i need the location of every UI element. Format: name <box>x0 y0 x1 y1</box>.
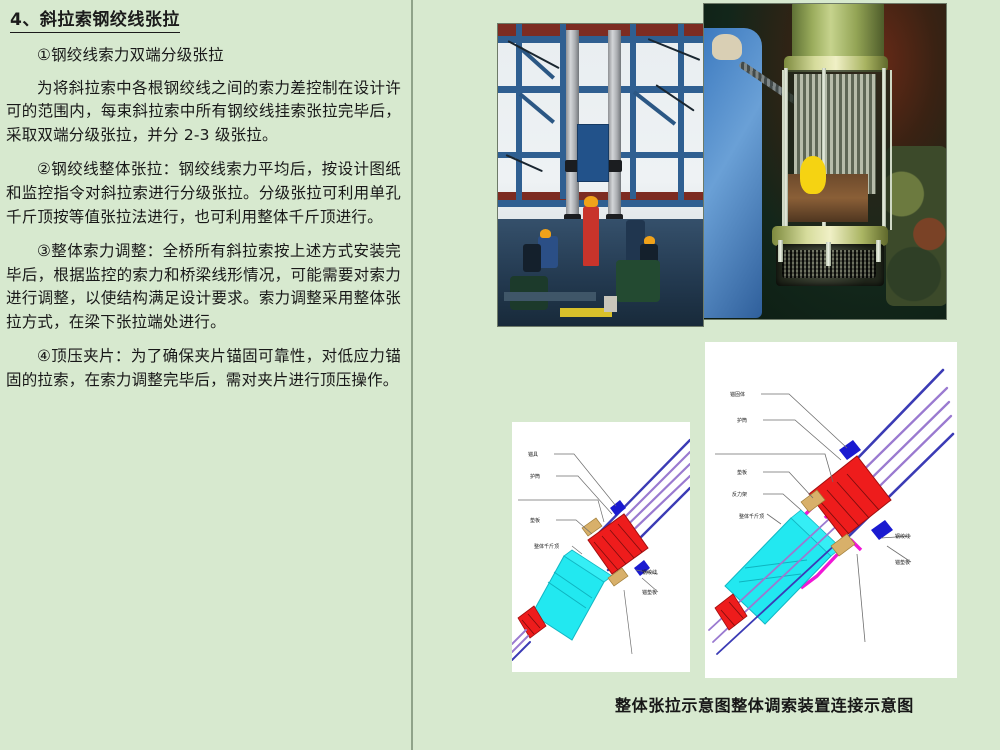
worker-left-helmet <box>540 229 551 238</box>
diagram-left-label-1: 护筒 <box>530 473 540 480</box>
worker-center-helmet <box>584 196 598 207</box>
diagram-right-label-r1: 锚垫板 <box>895 559 910 566</box>
beam-mid <box>498 86 703 93</box>
strand-tail <box>512 630 530 660</box>
flange-bolt-1 <box>778 240 783 262</box>
control-box <box>577 124 609 182</box>
cable-adjust-svg: 锚固体 护筒 垫板 反力架 整体千斤顶 钢绞线 锚垫板 <box>705 342 957 678</box>
media-column: 锚具 护筒 垫板 整体千斤顶 钢绞线 锚垫板 <box>415 0 1000 750</box>
flange-bolt-2 <box>826 242 831 266</box>
worker-center-body <box>583 206 599 266</box>
diagram-right-label-1: 护筒 <box>737 417 747 424</box>
overall-tensioning-diagram: 锚具 护筒 垫板 整体千斤顶 钢绞线 锚垫板 <box>512 422 690 672</box>
cylinder-cap-right <box>607 160 622 172</box>
page-title: 4、斜拉索钢绞线张拉 <box>10 10 180 33</box>
anchor-plate-upper <box>610 500 626 516</box>
diagram-left-label-0: 锚具 <box>528 451 538 458</box>
deck-plank <box>504 292 596 301</box>
camo-equipment <box>886 146 947 306</box>
paragraph-1: ①钢绞线索力双端分级张拉 <box>6 44 401 68</box>
tension-cylinder-right <box>608 30 621 230</box>
paragraph-3: ②钢绞线整体张拉：钢绞线索力平均后，按设计图纸和监控指令对斜拉索进行分级张拉。分… <box>6 158 401 229</box>
column-mid-right <box>630 24 636 199</box>
worker-left-body <box>538 236 558 268</box>
beam-deckline-2 <box>498 200 703 207</box>
flange-bolt-3 <box>876 240 881 262</box>
diagram-right-label-2: 垫板 <box>737 469 747 476</box>
construction-site-photo <box>497 23 704 327</box>
diagram-right-label-r0: 钢绞线 <box>895 533 910 540</box>
diagram-right-label-4: 整体千斤顶 <box>739 513 764 520</box>
cage-bar-3 <box>882 68 886 236</box>
cable-adjust-device-diagram: 锚固体 护筒 垫板 反力架 整体千斤顶 钢绞线 锚垫板 <box>705 342 957 678</box>
slide-root: 4、斜拉索钢绞线张拉 ①钢绞线索力双端分级张拉 为将斜拉索中各根钢绞线之间的索力… <box>0 0 1000 750</box>
green-equipment <box>616 260 660 302</box>
diagram-right-label-3: 反力架 <box>732 491 747 498</box>
diagram-right-label-0: 锚固体 <box>730 391 745 398</box>
worker-left2-body <box>523 244 541 272</box>
worker-glove <box>712 34 742 60</box>
diagram-left-label-r1: 锚垫板 <box>642 589 657 596</box>
paragraph-4: ③整体索力调整：全桥所有斜拉索按上述方式安装完毕后，根据监控的索力和桥梁线形情况… <box>6 240 401 334</box>
anchor-plate-lower-right <box>871 520 893 540</box>
paragraph-2: 为将斜拉索中各根钢绞线之间的索力差控制在设计许可的范围内，每束斜拉索中所有钢绞线… <box>6 77 401 148</box>
diagram-caption: 整体张拉示意图整体调索装置连接示意图 <box>615 692 914 716</box>
diagram-left-label-2: 垫板 <box>530 517 540 524</box>
paragraph-5: ④顶压夹片：为了确保夹片锚固可靠性，对低应力锚固的拉索，在索力调整完毕后，需对夹… <box>6 345 401 392</box>
text-column: 4、斜拉索钢绞线张拉 ①钢绞线索力双端分级张拉 为将斜拉索中各根钢绞线之间的索力… <box>0 0 413 750</box>
beam-top <box>498 36 703 43</box>
overall-tensioning-svg: 锚具 护筒 垫板 整体千斤顶 钢绞线 锚垫板 <box>512 422 690 672</box>
bucket <box>604 296 617 312</box>
diagram-left-label-3: 整体千斤顶 <box>534 543 559 550</box>
hydraulic-jack-photo <box>703 3 947 320</box>
yellow-marker <box>800 156 826 194</box>
diagram-left-label-r0: 钢绞线 <box>642 569 657 576</box>
